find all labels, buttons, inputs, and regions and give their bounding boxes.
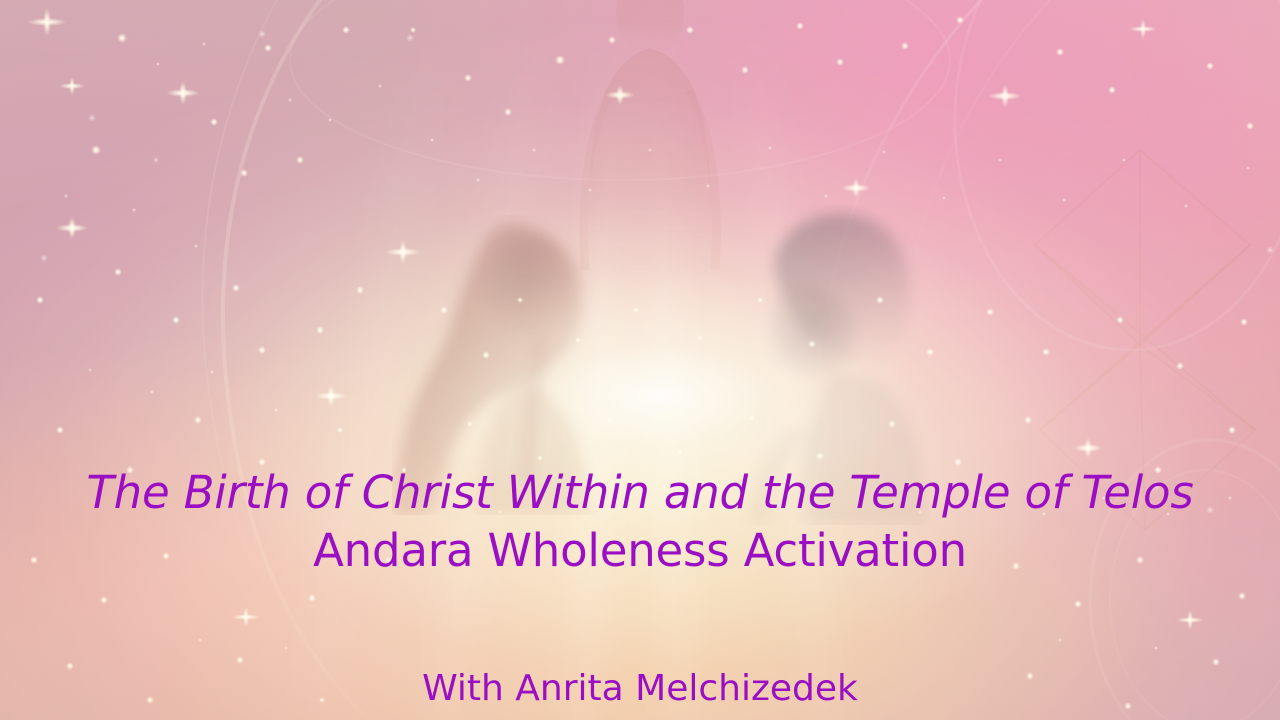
slide-title-line-2: Andara Wholeness Activation	[0, 528, 1280, 574]
slide-title-line-1: The Birth of Christ Within and the Templ…	[0, 470, 1280, 516]
title-slide: The Birth of Christ Within and the Templ…	[0, 0, 1280, 720]
title-text-block: The Birth of Christ Within and the Templ…	[0, 470, 1280, 574]
presenter-credit: With Anrita Melchizedek	[0, 668, 1280, 709]
